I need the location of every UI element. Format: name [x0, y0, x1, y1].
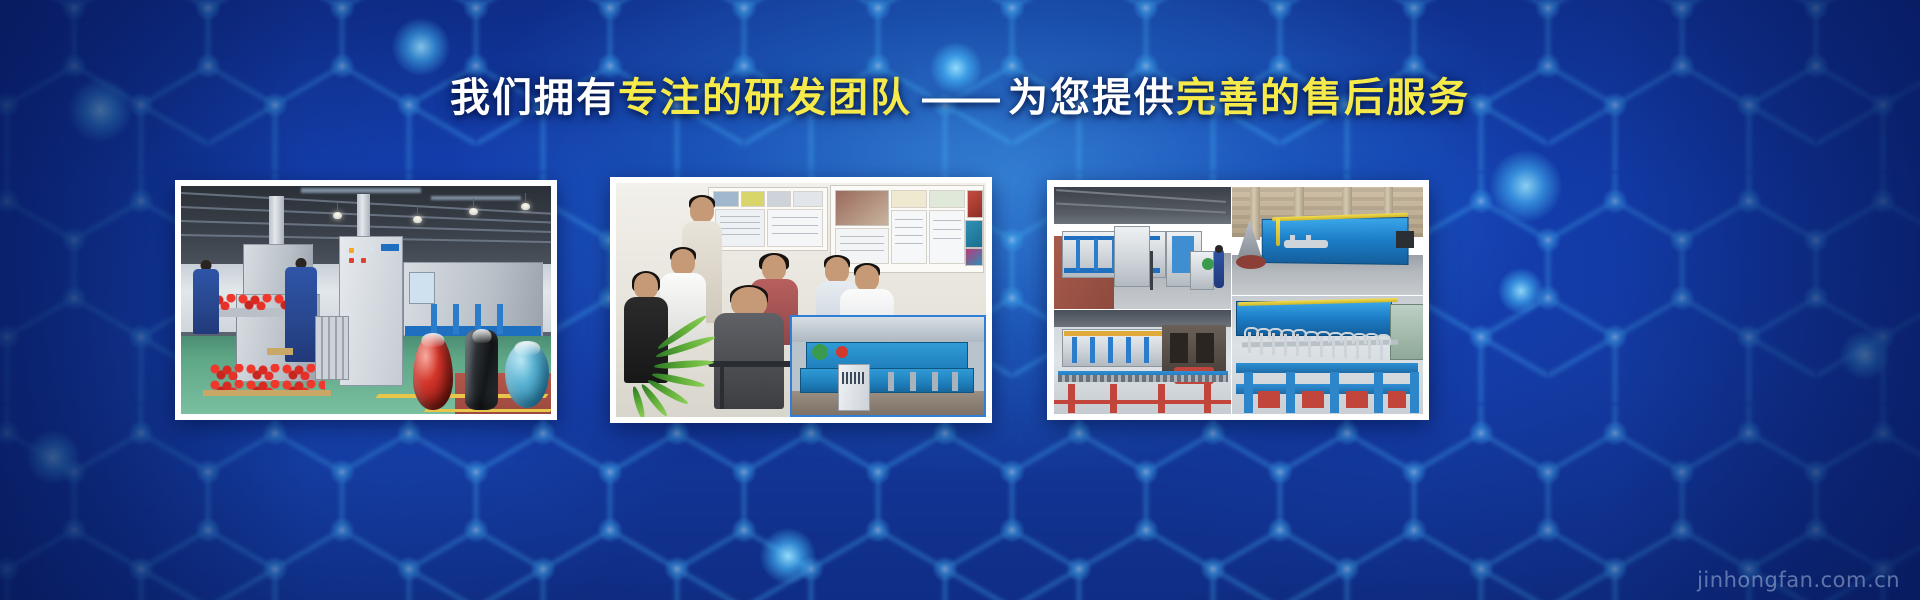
worker-figure	[193, 260, 219, 334]
collage-cell-hook-line	[1231, 295, 1423, 414]
headline-segment-2: 专注的研发团队	[618, 76, 912, 120]
headline: 我们拥有专注的研发团队——为您提供完善的售后服务	[0, 74, 1920, 122]
site-watermark: jinhongfan.com.cn	[1697, 568, 1900, 592]
glass-vase-red	[413, 334, 453, 410]
equipment-inset-photo	[790, 315, 986, 417]
worker-figure	[285, 258, 317, 362]
collage-cell-conveyor	[1053, 309, 1233, 414]
headline-separator: ——	[912, 76, 1008, 120]
promo-banner: 我们拥有专注的研发团队——为您提供完善的售后服务	[0, 0, 1920, 600]
headline-segment-3: 为您提供	[1008, 76, 1176, 120]
glass-vase-black	[465, 330, 498, 410]
person-figure	[714, 287, 784, 407]
headline-segment-4: 完善的售后服务	[1176, 76, 1470, 120]
equipment-collage-photo[interactable]	[1047, 180, 1429, 420]
production-line-photo[interactable]	[175, 180, 557, 420]
photo-panel-row	[0, 180, 1920, 420]
collage-cell-kiln-hall	[1053, 186, 1233, 311]
team-meeting-photo[interactable]	[610, 177, 992, 423]
collage-cell-blue-furnace	[1231, 186, 1423, 297]
headline-segment-1: 我们拥有	[450, 76, 618, 120]
palm-plant	[628, 333, 724, 409]
